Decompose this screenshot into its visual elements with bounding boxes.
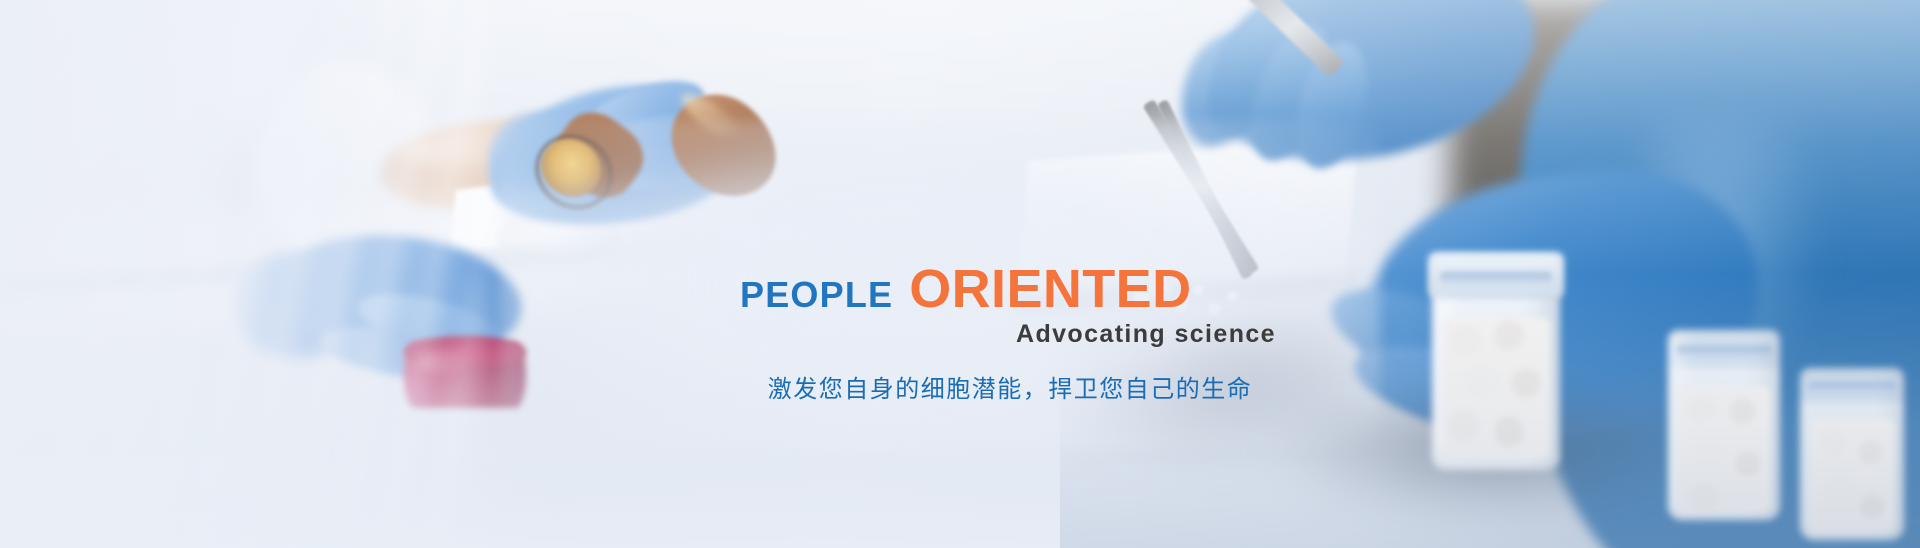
headline-word-people: PEOPLE	[740, 274, 893, 315]
headline: PEOPLEORIENTED	[740, 262, 1280, 316]
headline-word-oriented: ORIENTED	[909, 259, 1191, 319]
headline-subtitle-chinese: 激发您自身的细胞潜能，捍卫您自己的生命	[740, 378, 1280, 402]
headline-tagline: Advocating science	[740, 322, 1280, 347]
hero-banner: PEOPLEORIENTED Advocating science 激发您自身的…	[0, 0, 1920, 548]
banner-text-block: PEOPLEORIENTED Advocating science 激发您自身的…	[740, 262, 1280, 347]
